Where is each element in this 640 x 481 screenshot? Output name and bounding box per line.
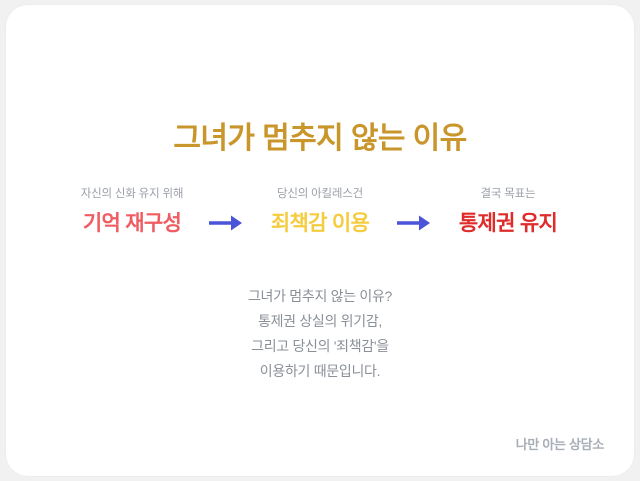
flow-step-2-label: 당신의 아킬레스건 (277, 188, 363, 202)
flow-step-1-label: 자신의 신화 유지 위해 (81, 188, 183, 202)
flow-step-3-label: 결국 목표는 (481, 188, 536, 202)
arrow-right-icon-1 (196, 214, 256, 236)
slide-card: 그녀가 멈추지 않는 이유 자신의 신화 유지 위해 기억 재구성 당신의 아킬… (6, 5, 634, 476)
page-title: 그녀가 멈추지 않는 이유 (6, 122, 634, 157)
body-paragraph: 그녀가 멈추지 않는 이유? 통제권 상실의 위기감, 그리고 당신의 '죄책감… (6, 284, 634, 384)
flow-step-2: 당신의 아킬레스건 죄책감 이용 (256, 188, 384, 236)
footer-brand: 나만 아는 상담소 (516, 434, 604, 453)
flow-step-2-value: 죄책감 이용 (271, 211, 369, 236)
body-line-3: 그리고 당신의 '죄책감'을 (6, 334, 634, 359)
body-line-1: 그녀가 멈추지 않는 이유? (6, 284, 634, 309)
flow-step-1: 자신의 신화 유지 위해 기억 재구성 (68, 188, 196, 236)
body-line-2: 통제권 상실의 위기감, (6, 309, 634, 334)
flow-step-3: 결국 목표는 통제권 유지 (444, 188, 572, 236)
flow-diagram: 자신의 신화 유지 위해 기억 재구성 당신의 아킬레스건 죄책감 이용 결국 … (24, 188, 616, 236)
arrow-right-icon-2 (384, 214, 444, 236)
flow-step-1-value: 기억 재구성 (83, 211, 181, 236)
flow-step-3-value: 통제권 유지 (459, 211, 557, 236)
body-line-4: 이용하기 때문입니다. (6, 359, 634, 384)
